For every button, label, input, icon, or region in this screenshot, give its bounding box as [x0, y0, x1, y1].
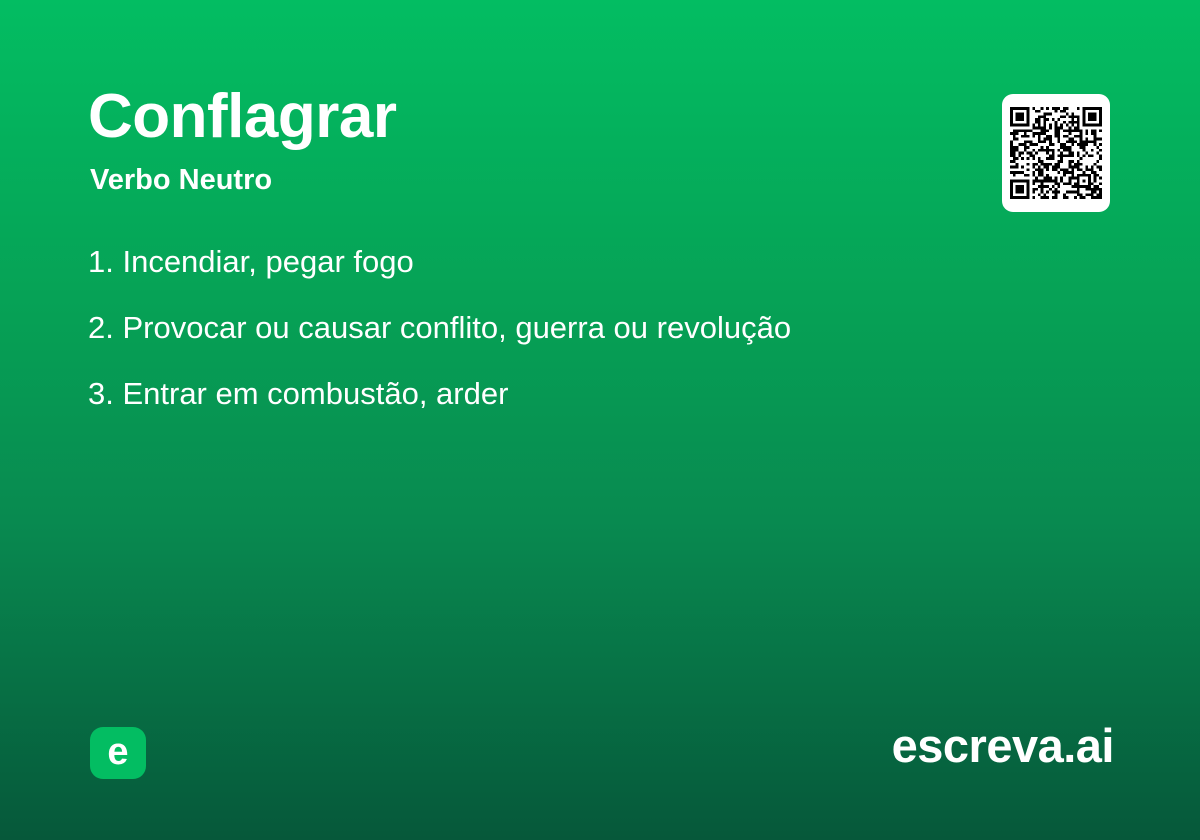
list-item: 2. Provocar ou causar conflito, guerra o…	[88, 312, 948, 343]
qr-code-container[interactable]	[1002, 94, 1110, 212]
list-item: 1. Incendiar, pegar fogo	[88, 246, 948, 277]
word-class-label: Verbo Neutro	[90, 166, 272, 195]
brand-logo: e	[90, 727, 146, 779]
definition-list: 1. Incendiar, pegar fogo 2. Provocar ou …	[88, 246, 948, 444]
list-item: 3. Entrar em combustão, arder	[88, 378, 948, 409]
brand-logo-letter: e	[107, 733, 128, 771]
page-title: Conflagrar	[88, 86, 396, 148]
word-definition-card: Conflagrar Verbo Neutro 1. Incendiar, pe…	[0, 0, 1200, 840]
qr-code-icon	[1010, 107, 1102, 199]
brand-wordmark: escreva.ai	[892, 722, 1114, 769]
